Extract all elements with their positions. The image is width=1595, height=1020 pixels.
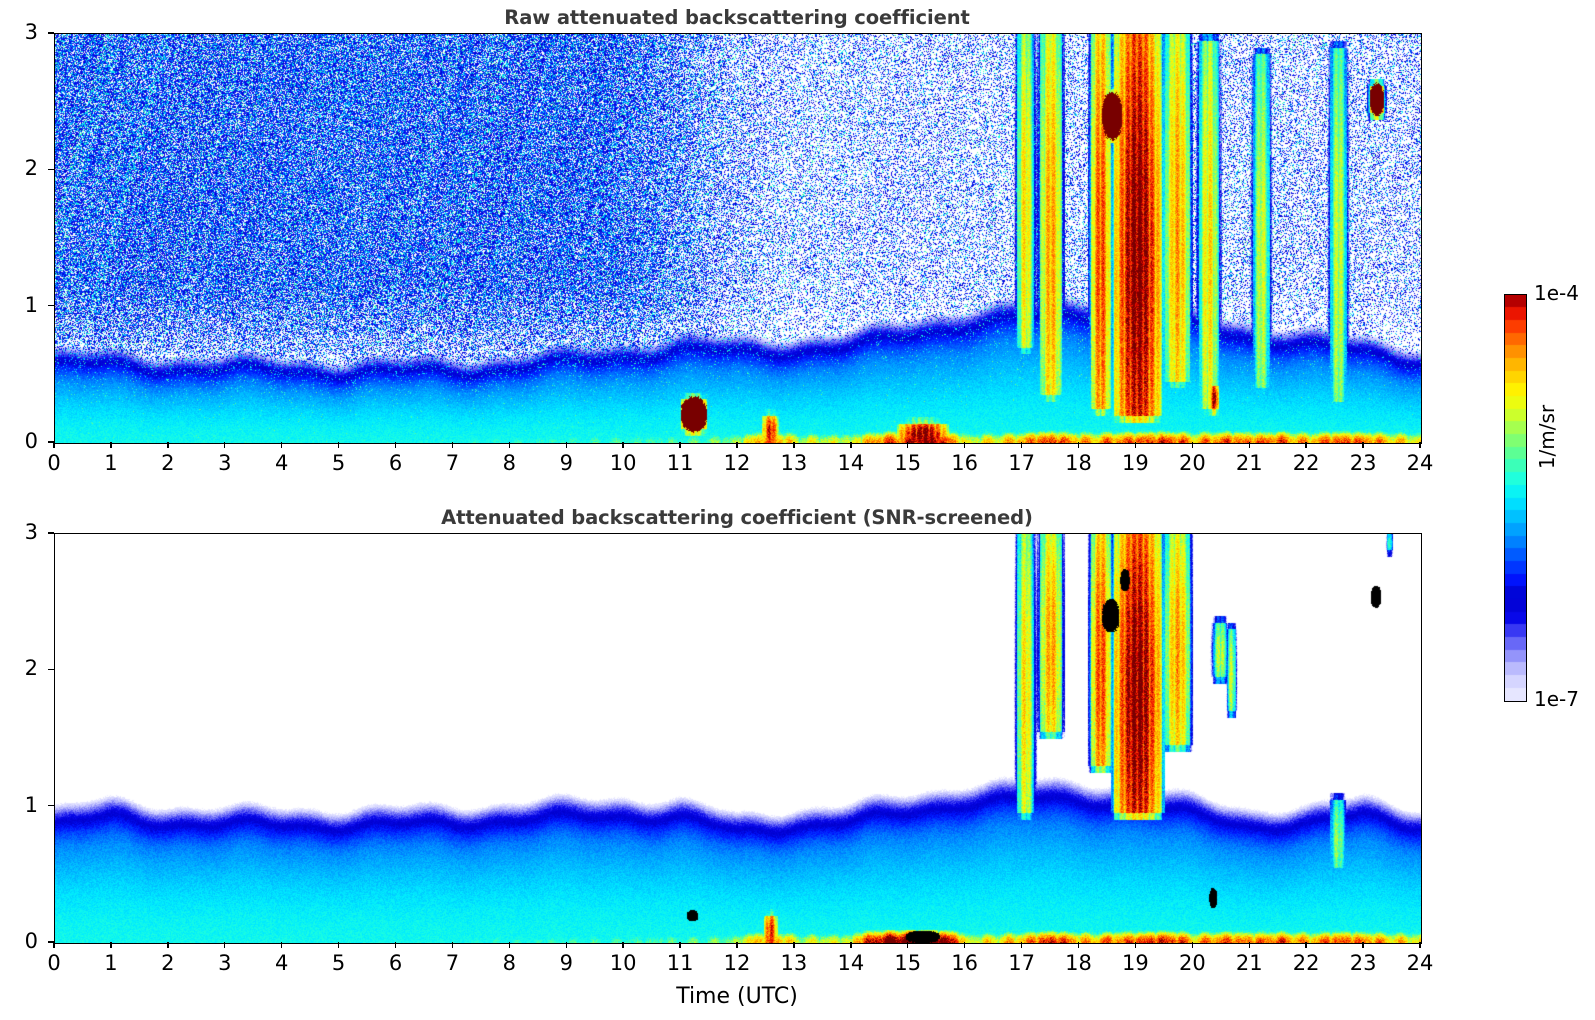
- x-tick: [509, 942, 510, 948]
- x-tick: [395, 942, 396, 948]
- x-tick: [964, 942, 965, 948]
- x-tick-label: 14: [823, 953, 879, 974]
- y-tick-label: 2: [0, 158, 38, 179]
- x-tick-label: 1: [83, 953, 139, 974]
- x-tick-label: 10: [595, 953, 651, 974]
- x-tick: [964, 442, 965, 448]
- x-tick-label: 16: [937, 953, 993, 974]
- x-tick: [1305, 942, 1306, 948]
- y-tick: [48, 941, 54, 942]
- x-tick: [1249, 942, 1250, 948]
- x-tick: [338, 442, 339, 448]
- x-tick: [1192, 442, 1193, 448]
- x-tick-label: 15: [880, 953, 936, 974]
- x-tick-label: 19: [1107, 453, 1163, 474]
- x-tick: [679, 442, 680, 448]
- x-tick-label: 21: [1221, 453, 1277, 474]
- x-tick-label: 18: [1051, 953, 1107, 974]
- panel-raw-axes: [54, 33, 1422, 444]
- x-tick: [1192, 942, 1193, 948]
- x-tick: [281, 442, 282, 448]
- colorbar-min-label: 1e-7: [1534, 689, 1579, 709]
- y-tick: [48, 532, 54, 533]
- x-tick-label: 4: [254, 453, 310, 474]
- y-tick: [48, 805, 54, 806]
- x-tick-label: 13: [766, 953, 822, 974]
- x-tick-label: 3: [197, 953, 253, 974]
- x-tick: [793, 442, 794, 448]
- x-tick-label: 23: [1335, 453, 1391, 474]
- x-tick-label: 21: [1221, 953, 1277, 974]
- x-tick: [1305, 442, 1306, 448]
- x-tick-label: 16: [937, 453, 993, 474]
- x-tick: [566, 442, 567, 448]
- x-tick-label: 18: [1051, 453, 1107, 474]
- y-tick-label: 2: [0, 658, 38, 679]
- y-tick-label: 3: [0, 522, 38, 543]
- x-tick-label: 20: [1164, 453, 1220, 474]
- x-tick: [167, 942, 168, 948]
- y-tick: [48, 441, 54, 442]
- x-tick-label: 23: [1335, 953, 1391, 974]
- x-tick: [736, 442, 737, 448]
- x-tick: [452, 942, 453, 948]
- panel-raw-title: Raw attenuated backscattering coefficien…: [54, 6, 1420, 29]
- x-tick-label: 24: [1392, 453, 1448, 474]
- x-tick: [110, 942, 111, 948]
- x-tick-label: 15: [880, 453, 936, 474]
- x-tick: [907, 442, 908, 448]
- x-tick: [224, 942, 225, 948]
- x-tick-label: 7: [424, 453, 480, 474]
- colorbar-max-label: 1e-4: [1534, 283, 1579, 303]
- x-tick-label: 3: [197, 453, 253, 474]
- x-tick-label: 5: [311, 953, 367, 974]
- y-tick: [48, 305, 54, 306]
- x-tick-label: 8: [481, 453, 537, 474]
- x-tick: [1362, 942, 1363, 948]
- y-tick-label: 0: [0, 431, 38, 452]
- panel-screened-title: Attenuated backscattering coefficient (S…: [54, 506, 1420, 529]
- x-tick: [1078, 942, 1079, 948]
- x-tick: [1135, 442, 1136, 448]
- x-tick: [907, 942, 908, 948]
- x-tick-label: 2: [140, 953, 196, 974]
- x-tick-label: 9: [538, 453, 594, 474]
- x-tick: [566, 942, 567, 948]
- x-tick-label: 2: [140, 453, 196, 474]
- x-tick: [679, 942, 680, 948]
- x-tick: [1249, 442, 1250, 448]
- x-tick: [53, 942, 54, 948]
- x-tick-label: 24: [1392, 953, 1448, 974]
- x-tick-label: 12: [709, 453, 765, 474]
- x-tick-label: 13: [766, 453, 822, 474]
- x-tick-label: 11: [652, 453, 708, 474]
- colorbar-unit-label: 1/m/sr: [1535, 377, 1559, 497]
- x-tick-label: 22: [1278, 453, 1334, 474]
- x-tick: [850, 942, 851, 948]
- x-tick-label: 4: [254, 953, 310, 974]
- x-tick: [622, 442, 623, 448]
- x-tick-label: 7: [424, 953, 480, 974]
- x-tick: [793, 942, 794, 948]
- y-tick-label: 1: [0, 295, 38, 316]
- y-tick-label: 0: [0, 931, 38, 952]
- x-tick-label: 9: [538, 953, 594, 974]
- x-tick-label: 8: [481, 953, 537, 974]
- x-tick: [167, 442, 168, 448]
- panel-raw-heatmap: [55, 34, 1421, 443]
- x-tick: [1135, 942, 1136, 948]
- x-tick: [224, 442, 225, 448]
- x-tick-label: 20: [1164, 953, 1220, 974]
- x-tick: [622, 942, 623, 948]
- x-tick: [736, 942, 737, 948]
- y-tick: [48, 669, 54, 670]
- x-tick-label: 6: [368, 453, 424, 474]
- x-tick-label: 19: [1107, 953, 1163, 974]
- y-tick: [48, 32, 54, 33]
- x-tick: [850, 442, 851, 448]
- x-tick-label: 0: [26, 953, 82, 974]
- x-tick-label: 6: [368, 953, 424, 974]
- x-tick: [281, 942, 282, 948]
- x-tick: [1078, 442, 1079, 448]
- x-tick-label: 14: [823, 453, 879, 474]
- x-tick: [1419, 942, 1420, 948]
- x-tick-label: 17: [994, 453, 1050, 474]
- x-tick: [1021, 442, 1022, 448]
- figure-root: Raw attenuated backscattering coefficien…: [0, 0, 1595, 1020]
- panel-screened-axes: [54, 533, 1422, 944]
- x-axis-label: Time (UTC): [54, 984, 1420, 1009]
- x-tick-label: 10: [595, 453, 651, 474]
- x-tick: [1419, 442, 1420, 448]
- x-tick-label: 1: [83, 453, 139, 474]
- x-tick-label: 5: [311, 453, 367, 474]
- x-tick-label: 22: [1278, 953, 1334, 974]
- x-tick-label: 11: [652, 953, 708, 974]
- x-tick: [1021, 942, 1022, 948]
- x-tick: [395, 442, 396, 448]
- panel-screened-heatmap: [55, 534, 1421, 943]
- colorbar-gradient: [1505, 295, 1526, 701]
- y-tick-label: 1: [0, 795, 38, 816]
- x-tick-label: 12: [709, 953, 765, 974]
- x-tick: [338, 942, 339, 948]
- x-tick: [53, 442, 54, 448]
- x-tick-label: 0: [26, 453, 82, 474]
- x-tick: [110, 442, 111, 448]
- x-tick: [1362, 442, 1363, 448]
- colorbar: [1504, 294, 1527, 702]
- y-tick: [48, 169, 54, 170]
- x-tick-label: 17: [994, 953, 1050, 974]
- x-tick: [509, 442, 510, 448]
- x-tick: [452, 442, 453, 448]
- y-tick-label: 3: [0, 22, 38, 43]
